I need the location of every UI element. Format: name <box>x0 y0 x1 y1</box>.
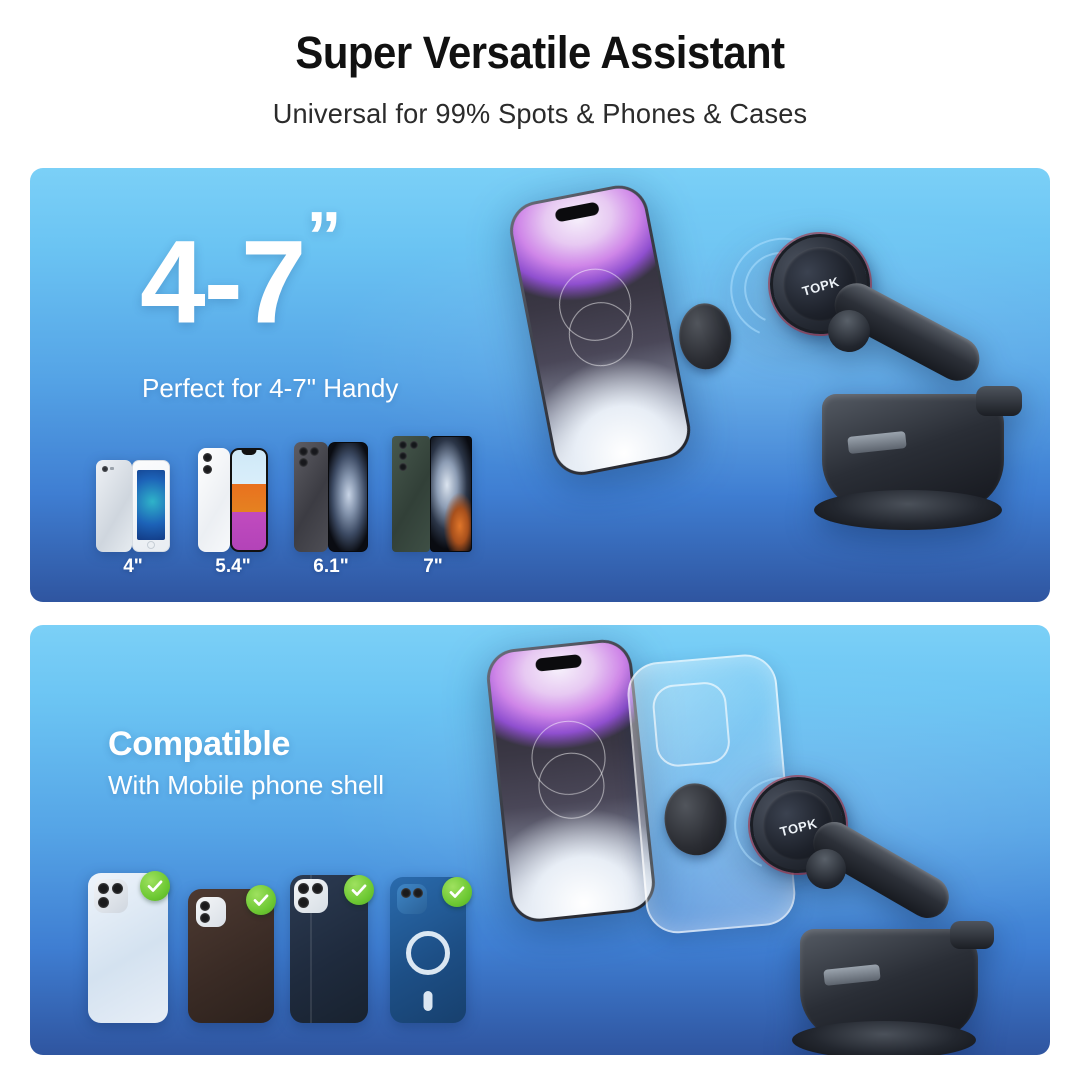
check-icon <box>252 891 270 909</box>
compatible-subline: With Mobile phone shell <box>108 770 384 801</box>
panel-case-compatibility: Compatible With Mobile phone shell <box>30 625 1050 1055</box>
suction-cup-disc <box>814 490 1002 530</box>
knob <box>976 386 1022 416</box>
case-thumbnail <box>290 871 376 1023</box>
phone-size-thumbnail-row: 4" 5.4" <box>70 446 490 586</box>
compatible-check-badge <box>246 885 276 915</box>
case-thumbnail <box>88 867 174 1023</box>
check-icon <box>448 883 466 901</box>
size-range-value: 4-7 <box>140 216 305 348</box>
magsafe-ring-graphic <box>546 262 649 373</box>
compatible-check-badge <box>442 877 472 907</box>
page-title: Super Versatile Assistant <box>38 27 1042 79</box>
dynamic-island <box>535 654 582 672</box>
knob <box>950 921 994 949</box>
phone-thumbnail-label: 6.1" <box>294 556 368 578</box>
header: Super Versatile Assistant Universal for … <box>0 0 1080 152</box>
phone-thumbnail: 4" <box>96 460 170 552</box>
compatible-check-badge <box>344 875 374 905</box>
compatible-headline: Compatible <box>108 725 290 764</box>
phone-thumbnail: 7" <box>392 436 474 552</box>
phone-thumbnail-label: 4" <box>96 556 170 578</box>
car-mount-product: TOPK <box>710 198 1040 588</box>
case-thumbnail <box>188 883 280 1023</box>
size-range-headline: 4-7” <box>140 223 337 341</box>
page-subtitle: Universal for 99% Spots & Phones & Cases <box>16 98 1064 130</box>
compatible-check-badge <box>140 871 170 901</box>
car-mount-product: TOPK <box>720 759 1050 1055</box>
phone-thumbnail-label: 5.4" <box>198 556 268 578</box>
check-icon <box>350 881 368 899</box>
inch-mark: ” <box>307 197 339 275</box>
phone-thumbnail-label: 7" <box>392 556 474 578</box>
hero-phone <box>505 180 695 480</box>
product-marketing-image: Super Versatile Assistant Universal for … <box>0 0 1080 1068</box>
phone-thumbnail: 6.1" <box>294 442 368 552</box>
case-thumbnail <box>390 873 474 1023</box>
panel-size-compatibility: 4-7” Perfect for 4-7" Handy 4" <box>30 168 1050 602</box>
phone-screen <box>508 184 691 477</box>
magsafe-ring-graphic <box>520 716 619 819</box>
suction-cup-disc <box>792 1021 976 1055</box>
dynamic-island <box>554 201 600 222</box>
camera-cutout <box>651 680 732 768</box>
phone-thumbnail: 5.4" <box>198 448 268 552</box>
magsafe-ring <box>406 931 450 975</box>
check-icon <box>146 877 164 895</box>
case-thumbnail-row <box>72 863 492 1023</box>
size-range-subline: Perfect for 4-7" Handy <box>142 373 398 404</box>
